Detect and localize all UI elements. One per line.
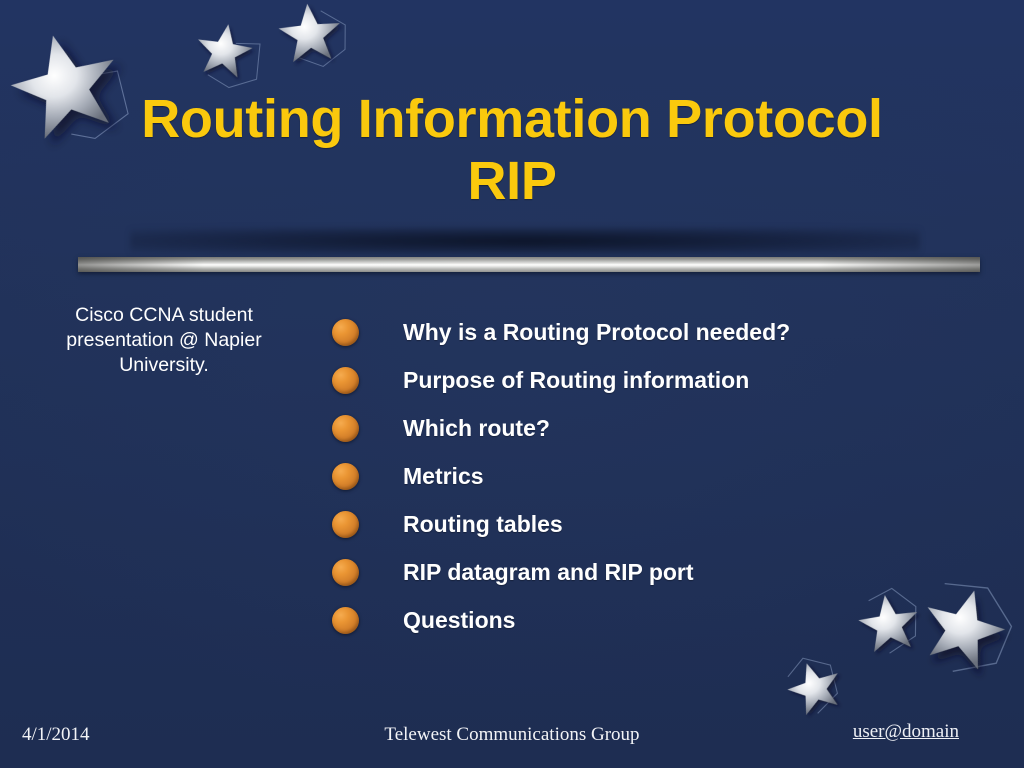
- bullet-dot-icon: [332, 463, 359, 490]
- bullet-dot-icon: [332, 319, 359, 346]
- list-item-label: Routing tables: [403, 511, 563, 537]
- bullet-dot-icon: [332, 607, 359, 634]
- list-item: Purpose of Routing information: [332, 356, 952, 404]
- bullet-dot-icon: [332, 511, 359, 538]
- list-item: Which route?: [332, 404, 952, 452]
- list-item-label: Metrics: [403, 463, 484, 489]
- list-item-label: Purpose of Routing information: [403, 367, 749, 393]
- slide-title: Routing Information Protocol RIP: [78, 88, 946, 212]
- list-item: Routing tables: [332, 500, 952, 548]
- caption-text: Cisco CCNA student presentation @ Napier…: [28, 303, 300, 378]
- presentation-slide: Routing Information Protocol RIP Cisco C…: [0, 0, 1024, 768]
- bullet-dot-icon: [332, 559, 359, 586]
- agenda-bullet-list: Why is a Routing Protocol needed? Purpos…: [332, 308, 952, 644]
- bullet-dot-icon: [332, 367, 359, 394]
- list-item-label: Why is a Routing Protocol needed?: [403, 319, 790, 345]
- list-item: Questions: [332, 596, 952, 644]
- list-item-label: RIP datagram and RIP port: [403, 559, 694, 585]
- list-item: Why is a Routing Protocol needed?: [332, 308, 952, 356]
- star-icon: [191, 20, 264, 92]
- star-icon: [780, 649, 848, 720]
- list-item: Metrics: [332, 452, 952, 500]
- list-item-label: Questions: [403, 607, 515, 633]
- list-item-label: Which route?: [403, 415, 550, 441]
- divider-shadow: [130, 228, 920, 254]
- footer-email-link[interactable]: user@domain: [853, 721, 959, 743]
- metallic-divider-bar: [78, 257, 980, 272]
- list-item: RIP datagram and RIP port: [332, 548, 952, 596]
- title-line-2: RIP: [78, 150, 946, 212]
- title-line-1: Routing Information Protocol: [78, 88, 946, 150]
- star-icon: [277, 1, 349, 70]
- bullet-dot-icon: [332, 415, 359, 442]
